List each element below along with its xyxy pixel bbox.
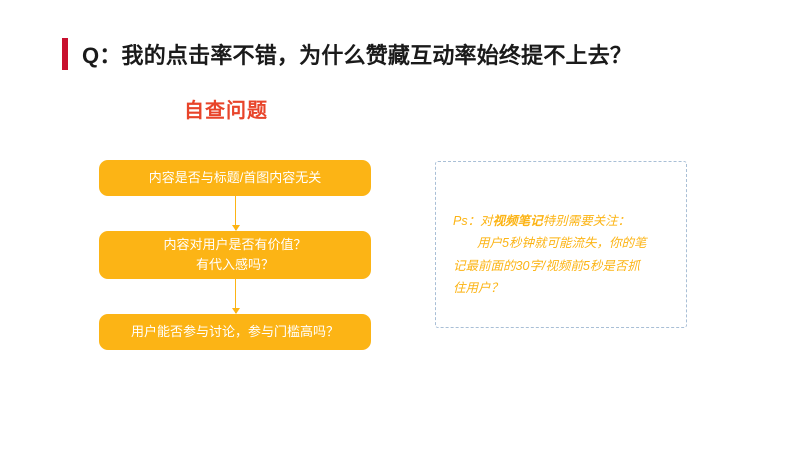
flow-box-1-line1: 内容是否与标题/首图内容无关: [149, 168, 322, 188]
note-prefix: Ps：对: [453, 214, 493, 228]
note-body-line-3: 住用户？: [453, 277, 675, 299]
flow-box-1: 内容是否与标题/首图内容无关: [99, 160, 371, 196]
section-heading: 自查问题: [184, 94, 268, 123]
flow-box-2-line2: 有代入感吗？: [196, 255, 274, 275]
note-body-line-2: 记最前面的30字/视频前5秒是否抓: [453, 255, 675, 277]
note-suffix: 特别需要关注：: [543, 214, 631, 228]
arrow-down-icon: [235, 196, 236, 230]
note-panel: Ps：对视频笔记特别需要关注： 用户5秒钟就可能流失，你的笔 记最前面的30字/…: [435, 161, 687, 328]
flow-box-2-line1: 内容对用户是否有价值？: [163, 235, 306, 255]
title-text: Q：我的点击率不错，为什么赞藏互动率始终提不上去？: [82, 38, 632, 70]
note-text: Ps：对视频笔记特别需要关注： 用户5秒钟就可能流失，你的笔 记最前面的30字/…: [453, 210, 675, 299]
flow-connector-1-wrap: [99, 196, 371, 231]
flow-box-2: 内容对用户是否有价值？ 有代入感吗？: [99, 231, 371, 279]
note-emphasis: 视频笔记: [493, 214, 543, 228]
flowchart: 内容是否与标题/首图内容无关 内容对用户是否有价值？ 有代入感吗？ 用户能否参与…: [99, 160, 371, 350]
page-title: Q：我的点击率不错，为什么赞藏互动率始终提不上去？: [62, 38, 632, 70]
note-body-line-1: 用户5秒钟就可能流失，你的笔: [453, 232, 675, 254]
flow-connector-2-wrap: [99, 279, 371, 314]
flow-box-3: 用户能否参与讨论，参与门槛高吗？: [99, 314, 371, 350]
arrow-down-icon: [235, 279, 236, 313]
slide-canvas: Q：我的点击率不错，为什么赞藏互动率始终提不上去？ 自查问题 内容是否与标题/首…: [0, 0, 800, 450]
flow-box-3-line1: 用户能否参与讨论，参与门槛高吗？: [131, 322, 339, 342]
note-headline: Ps：对视频笔记特别需要关注：: [453, 210, 675, 232]
title-accent-bar: [62, 38, 68, 70]
